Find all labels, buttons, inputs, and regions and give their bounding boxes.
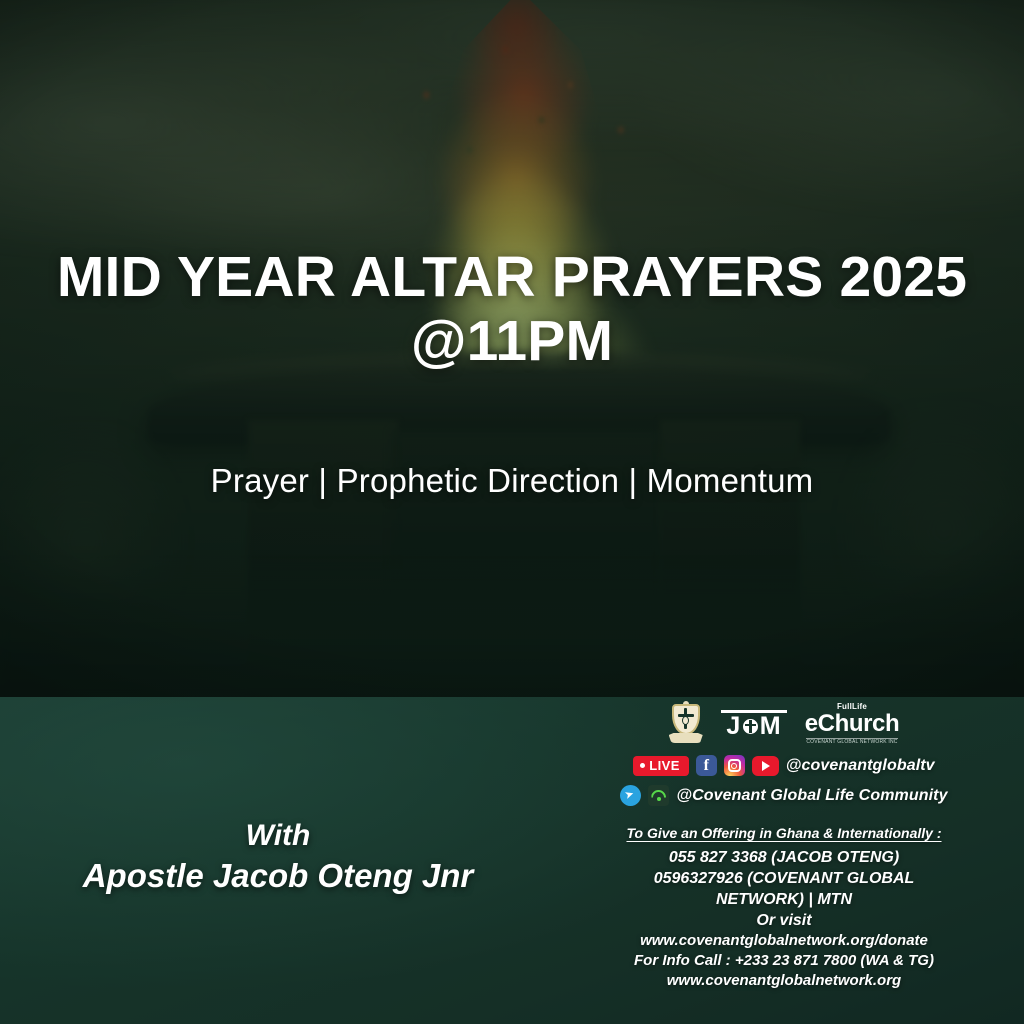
youtube-icon[interactable] [752,756,779,776]
jom-globe-cross-icon [743,719,758,734]
telegram-icon[interactable] [620,785,641,806]
event-title: MID YEAR ALTAR PRAYERS 2025 @11PM [0,246,1024,374]
community-handle[interactable]: @Covenant Global Life Community [676,787,947,805]
live-badge-label: LIVE [649,758,680,773]
hero-text-group: MID YEAR ALTAR PRAYERS 2025 @11PM Prayer… [0,0,1024,697]
giving-details: 055 827 3368 (JACOB OTENG) 0596327926 (C… [560,847,1008,991]
facebook-icon[interactable]: f [696,755,717,776]
logo-row: J M FullLife eChurch COVENANT GLOBAL NET… [560,703,1008,745]
giving-heading: To Give an Offering in Ghana & Internati… [560,825,1008,841]
social-row-secondary: @Covenant Global Life Community [560,785,1008,806]
speaker-with-label: With [28,817,528,855]
live-badge[interactable]: LIVE [633,756,689,776]
jom-logo: J M [721,707,787,741]
instagram-icon[interactable] [724,755,745,776]
echurch-subtext: COVENANT GLOBAL NETWORK INC [806,738,897,745]
giving-line-3: NETWORK) | MTN [560,889,1008,910]
jom-letter-m: M [760,714,781,739]
crest-ribbon-banner [669,733,703,743]
footer-panel: With Apostle Jacob Oteng Jnr J [0,697,1024,1024]
live-dot-icon [640,763,645,768]
wifi-signal-icon[interactable] [648,785,669,806]
giving-line-2: 0596327926 (COVENANT GLOBAL [560,868,1008,889]
speaker-name: Apostle Jacob Oteng Jnr [28,855,528,897]
shield-crest-icon [669,703,703,745]
info-call-line: For Info Call : +233 23 871 7800 (WA & T… [560,951,1008,971]
giving-line-4: Or visit [560,910,1008,931]
echurch-logo: FullLife eChurch COVENANT GLOBAL NETWORK… [805,703,900,745]
event-subtitle: Prayer | Prophetic Direction | Momentum [0,462,1024,500]
social-row-primary: LIVE f @covenantglobaltv [560,755,1008,776]
giving-line-1: 055 827 3368 (JACOB OTENG) [560,847,1008,868]
covenantglobaltv-handle[interactable]: @covenantglobaltv [786,757,935,775]
donate-url[interactable]: www.covenantglobalnetwork.org/donate [560,931,1008,951]
website-url[interactable]: www.covenantglobalnetwork.org [560,971,1008,991]
brand-column: J M FullLife eChurch COVENANT GLOBAL NET… [560,697,1008,1024]
jom-wordmark: J M [726,714,781,739]
echurch-wordmark: eChurch [805,712,900,736]
poster-canvas: MID YEAR ALTAR PRAYERS 2025 @11PM Prayer… [0,0,1024,1024]
speaker-block: With Apostle Jacob Oteng Jnr [28,817,528,898]
jom-letter-j: J [726,714,740,739]
